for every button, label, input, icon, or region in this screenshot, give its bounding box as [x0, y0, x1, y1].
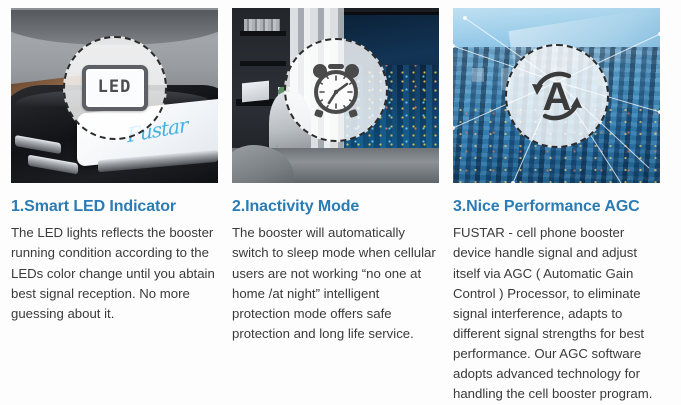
- card-body-inactivity-mode: The booster will automatically switch to…: [232, 223, 439, 343]
- feature-image-smart-led-indicator: Fustar LED: [11, 8, 218, 183]
- agc-auto-gain-icon: A: [523, 62, 591, 130]
- feature-card-smart-led-indicator: Fustar LED 1.Smart LED Indicator The LED…: [11, 8, 218, 404]
- highlight-lens-agc: A: [505, 44, 609, 148]
- feature-card-nice-performance-agc: A 3.Nice Performance AGC FUSTAR - cell p…: [453, 8, 660, 404]
- feature-card-inactivity-mode: 2.Inactivity Mode The booster will autom…: [232, 8, 439, 404]
- card-title-inactivity-mode: 2.Inactivity Mode: [232, 198, 439, 216]
- feature-card-row: Fustar LED 1.Smart LED Indicator The LED…: [0, 0, 681, 404]
- highlight-lens-clock: [284, 38, 388, 142]
- scene-shelf-upper: [240, 31, 286, 36]
- led-display-icon: LED: [82, 65, 148, 111]
- led-display-label: LED: [98, 79, 132, 96]
- card-body-nice-performance-agc: FUSTAR - cell phone booster device handl…: [453, 223, 660, 404]
- scene-laptop: [242, 80, 269, 102]
- alarm-clock-icon: [304, 58, 368, 122]
- card-title-smart-led-indicator: 1.Smart LED Indicator: [11, 198, 218, 216]
- feature-cards-page: Fustar LED 1.Smart LED Indicator The LED…: [0, 0, 681, 405]
- card-title-nice-performance-agc: 3.Nice Performance AGC: [453, 198, 660, 216]
- feature-image-inactivity-mode: [232, 8, 439, 183]
- feature-image-nice-performance-agc: A: [453, 8, 660, 183]
- card-body-smart-led-indicator: The LED lights reflects the booster runn…: [11, 223, 218, 323]
- scene-shelf-lower: [240, 61, 286, 66]
- highlight-lens-led: LED: [63, 36, 167, 140]
- agc-letter: A: [542, 75, 571, 119]
